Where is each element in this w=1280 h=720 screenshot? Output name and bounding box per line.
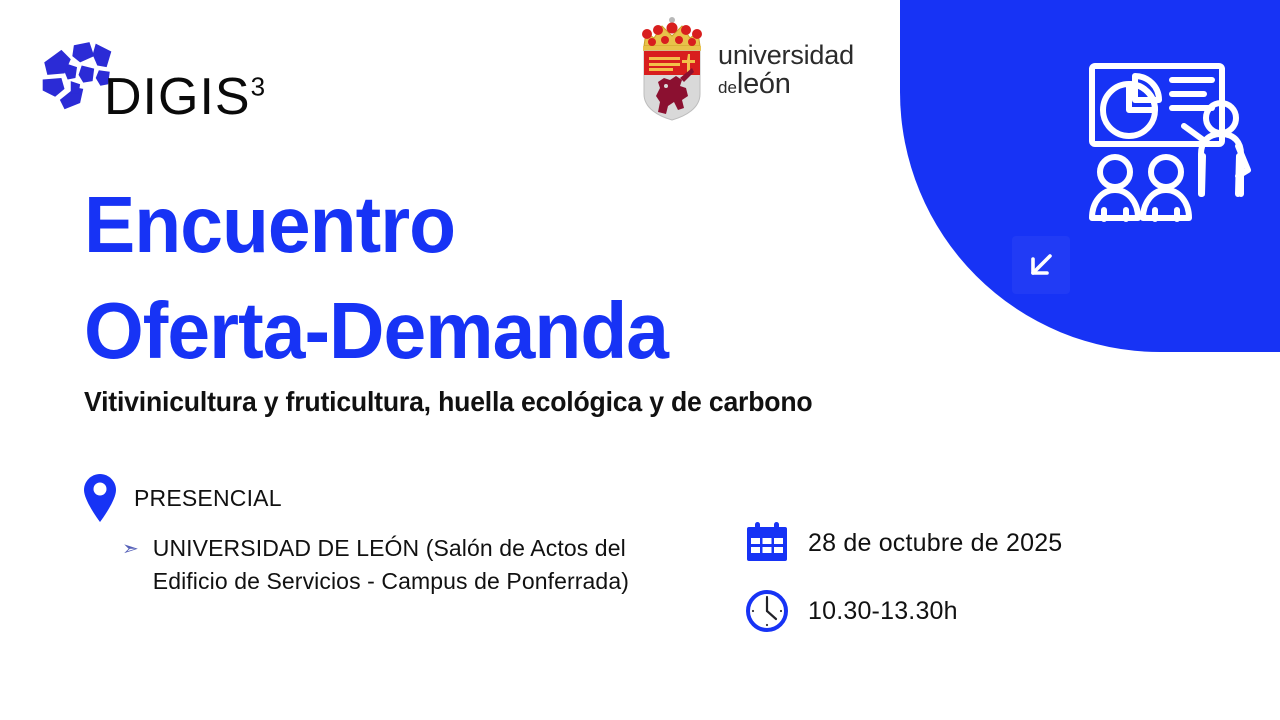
venue-line-1: UNIVERSIDAD DE LEÓN (Salón de Actos del <box>153 532 629 565</box>
universidad-leon: león <box>737 68 791 100</box>
page-subtitle: Vitivinicultura y fruticultura, huella e… <box>84 386 812 418</box>
time-row: 10.30-13.30h <box>744 588 1062 634</box>
universidad-de: de <box>718 78 737 97</box>
digis-wordmark: DIGIS3 <box>104 73 266 122</box>
venue-text: UNIVERSIDAD DE LEÓN (Salón de Actos del … <box>153 532 629 599</box>
decorative-blue-blob <box>900 0 1280 352</box>
event-time: 10.30-13.30h <box>808 597 958 626</box>
schedule-block: 28 de octubre de 2025 10.30-13.30h <box>744 520 1062 656</box>
page-title: Encuentro Oferta-Demanda <box>84 172 668 383</box>
clock-icon <box>744 588 790 634</box>
university-of-leon-shield <box>636 16 708 124</box>
blob-inner <box>900 0 1280 352</box>
location-mode: PRESENCIAL <box>84 474 282 522</box>
digis-superscript: 3 <box>251 71 266 101</box>
universidad-wordmark: universidad deleón <box>718 42 854 99</box>
arrow-bullet-icon: ➣ <box>122 532 139 566</box>
title-line-2: Oferta-Demanda <box>84 278 668 384</box>
arrow-down-left-icon <box>1012 236 1070 294</box>
title-line-1: Encuentro <box>84 172 668 278</box>
universidad-line1: universidad <box>718 42 854 69</box>
calendar-icon <box>744 520 790 566</box>
universidad-line2: deleón <box>718 70 854 99</box>
venue-item: ➣ UNIVERSIDAD DE LEÓN (Salón de Actos de… <box>122 532 722 599</box>
universidad-de-leon-logo: universidad deleón <box>636 16 854 124</box>
location-mode-label: PRESENCIAL <box>134 485 282 512</box>
presentation-board-icon <box>1080 58 1260 238</box>
event-poster: DIGIS3 <box>0 0 1280 720</box>
date-row: 28 de octubre de 2025 <box>744 520 1062 566</box>
venue-line-2: Edificio de Servicios - Campus de Ponfer… <box>153 565 629 598</box>
digis3-logo: DIGIS3 <box>38 38 266 122</box>
digis-word-text: DIGIS <box>104 68 251 126</box>
event-date: 28 de octubre de 2025 <box>808 529 1062 558</box>
map-pin-icon <box>84 474 116 522</box>
